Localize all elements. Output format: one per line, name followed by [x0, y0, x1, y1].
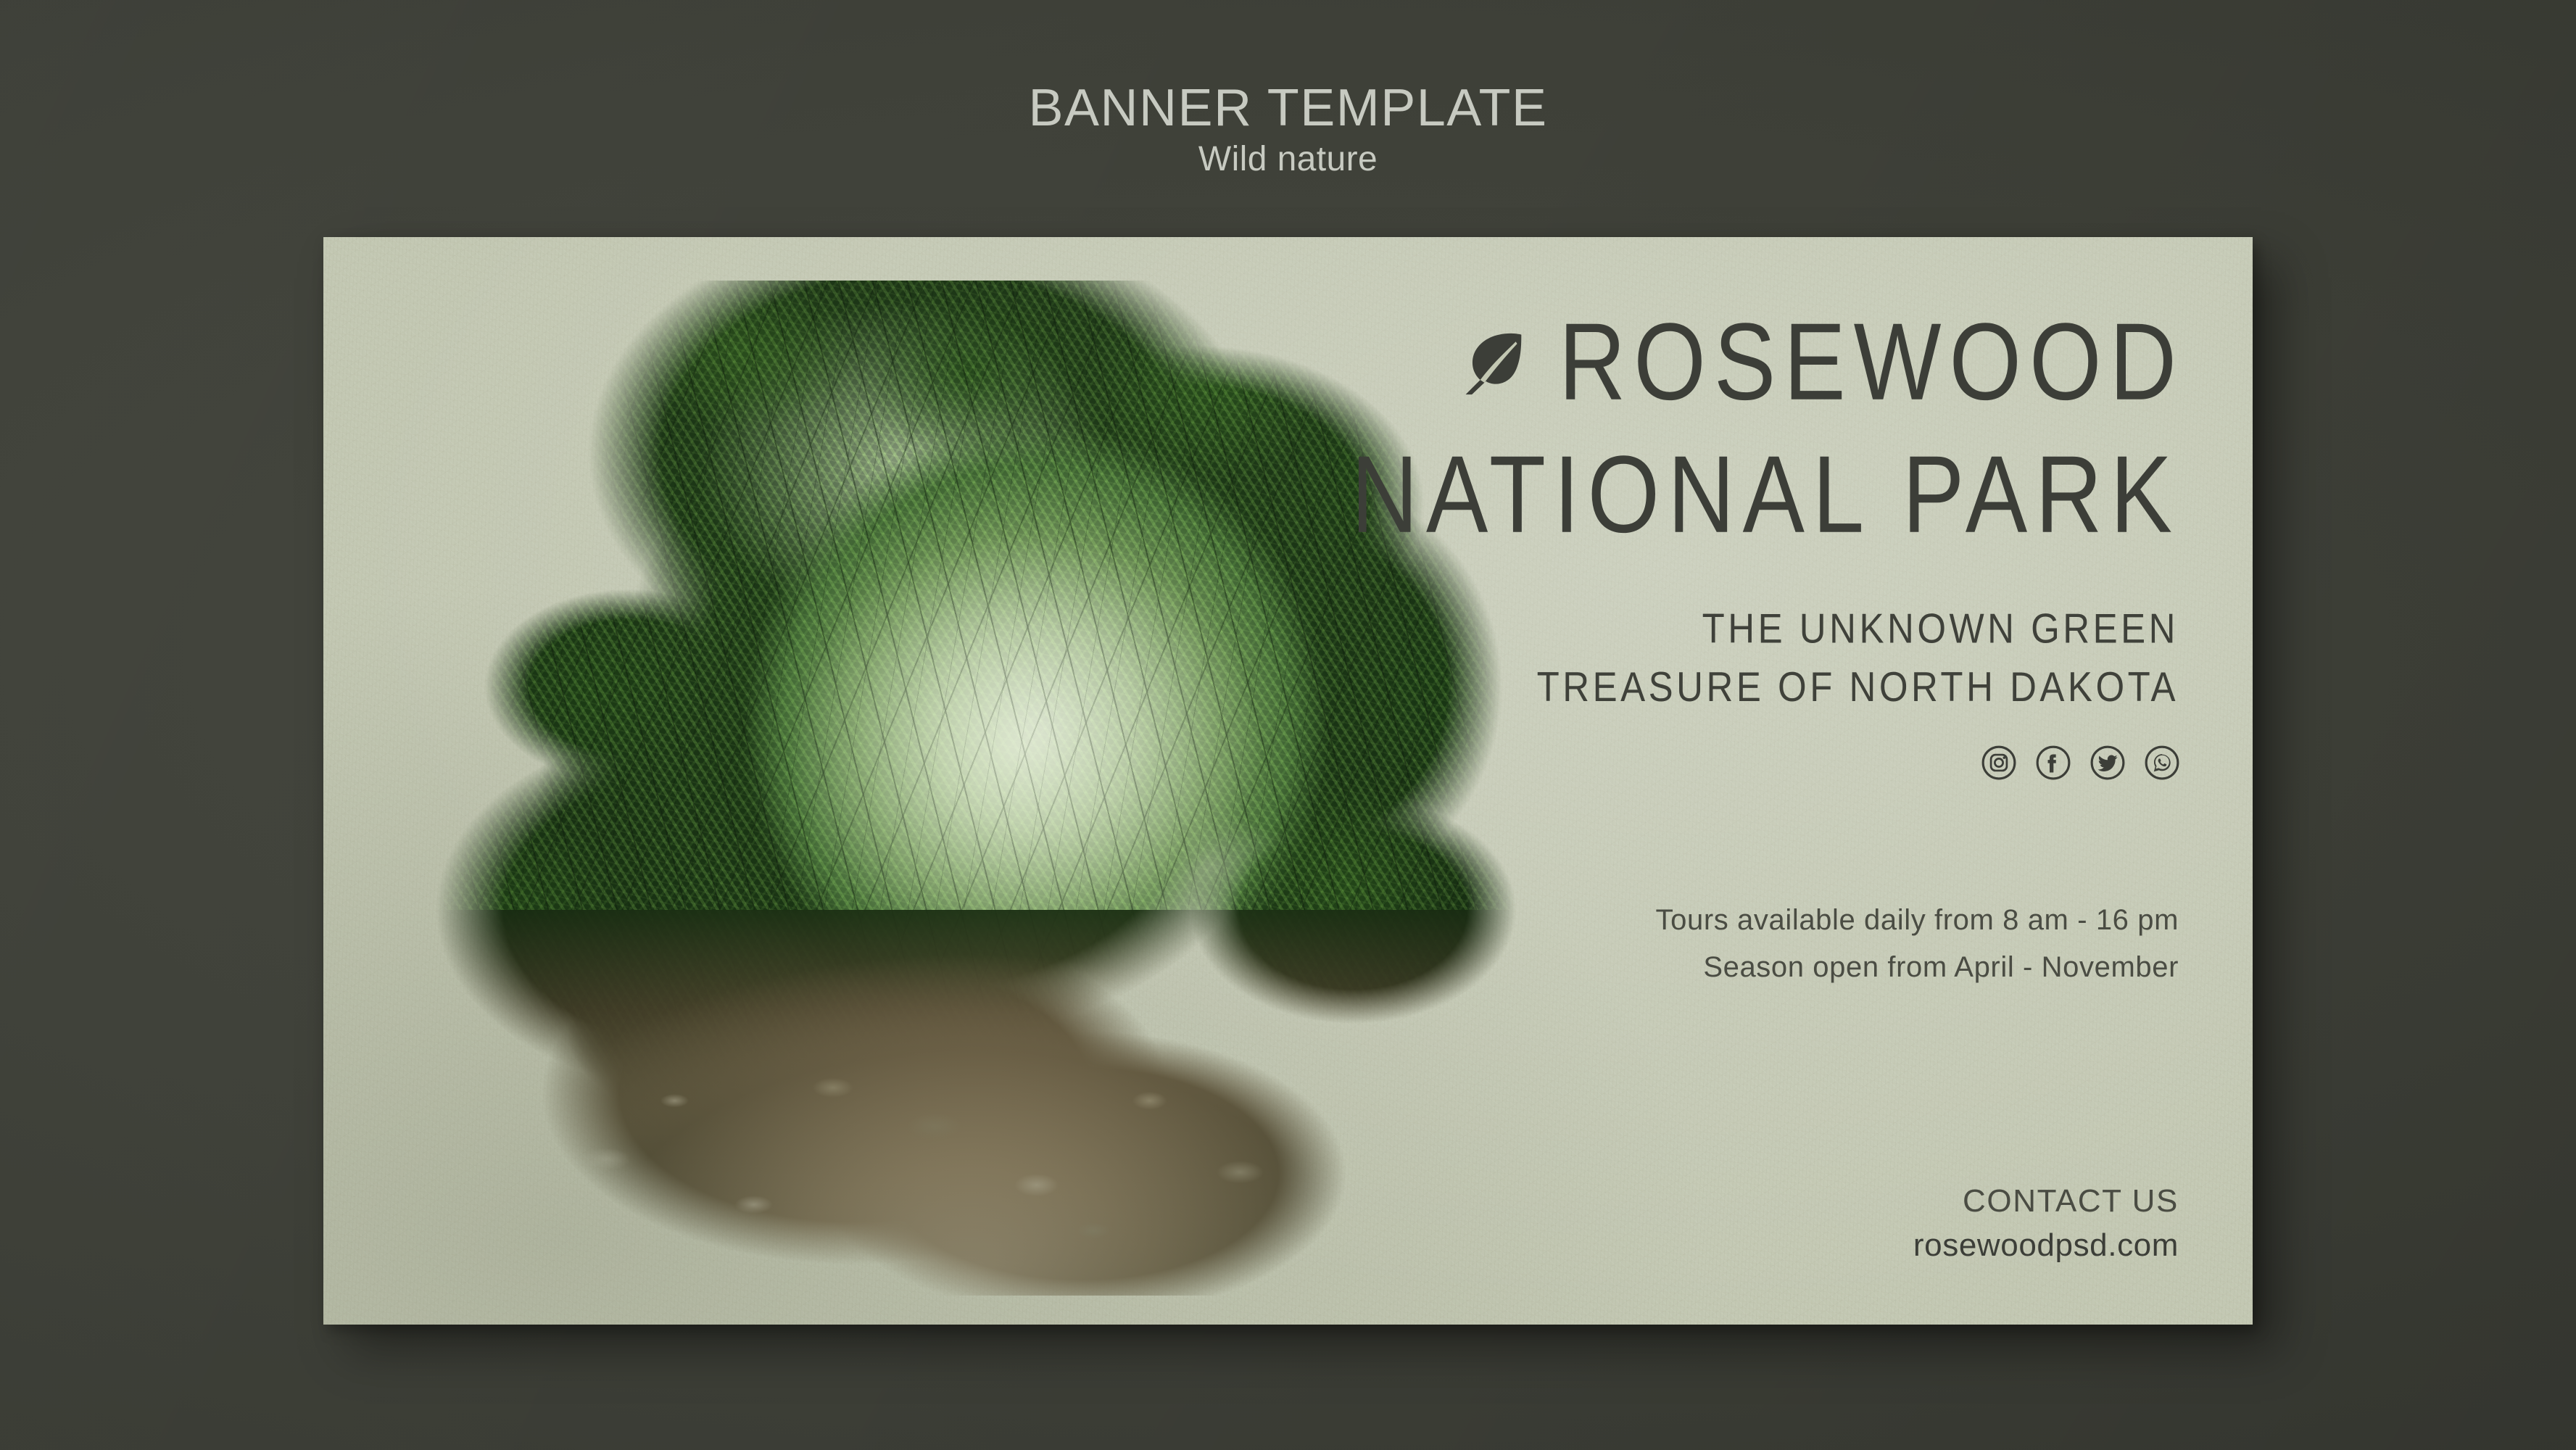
- page-title: BANNER TEMPLATE: [0, 78, 2576, 138]
- info-line-tours: Tours available daily from 8 am - 16 pm: [1148, 897, 2179, 944]
- leaf-icon: [1457, 328, 1527, 397]
- banner-content: ROSEWOOD NATIONAL PARK THE UNKNOWN GREEN…: [1148, 237, 2184, 1325]
- contact-website-link[interactable]: rosewoodpsd.com: [1913, 1225, 2179, 1265]
- opening-info: Tours available daily from 8 am - 16 pm …: [1148, 897, 2179, 991]
- page-subtitle: Wild nature: [0, 139, 2576, 179]
- info-line-season: Season open from April - November: [1148, 944, 2179, 991]
- tagline: THE UNKNOWN GREEN TREASURE OF NORTH DAKO…: [1148, 600, 2179, 717]
- tagline-line-1: THE UNKNOWN GREEN: [1148, 600, 2179, 658]
- brand-line-2-row: NATIONAL PARK: [1148, 448, 2184, 543]
- whatsapp-icon[interactable]: [2144, 745, 2180, 781]
- twitter-icon[interactable]: [2090, 745, 2126, 781]
- brand-name-primary: ROSEWOOD: [1559, 307, 2184, 418]
- facebook-icon[interactable]: [2035, 745, 2071, 781]
- contact-label: CONTACT US: [1913, 1181, 2179, 1221]
- contact-block: CONTACT US rosewoodpsd.com: [1913, 1181, 2179, 1265]
- tagline-line-2: TREASURE OF NORTH DAKOTA: [1148, 658, 2179, 717]
- brand-line-1-row: ROSEWOOD: [1148, 315, 2184, 410]
- brand-lockup: ROSEWOOD NATIONAL PARK: [1148, 315, 2184, 542]
- screenshot-stage: BANNER TEMPLATE Wild nature: [0, 0, 2576, 1450]
- banner-card: ROSEWOOD NATIONAL PARK THE UNKNOWN GREEN…: [323, 237, 2253, 1325]
- instagram-icon[interactable]: [1981, 745, 2017, 781]
- social-links: [1981, 745, 2180, 781]
- brand-name-secondary: NATIONAL PARK: [1148, 439, 2180, 551]
